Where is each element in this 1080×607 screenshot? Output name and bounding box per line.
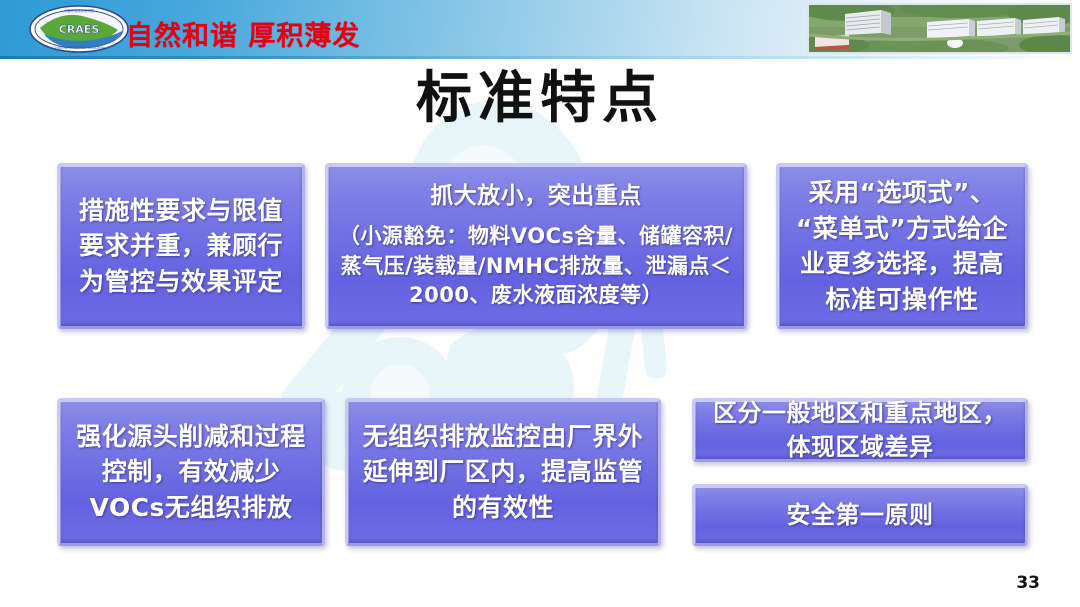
page-title: 标准特点 — [0, 66, 1080, 130]
feature-box-text: 安全第一原则 — [787, 498, 934, 532]
feature-box-measures-and-limits[interactable]: 措施性要求与限值要求并重，兼顾行为管控与效果评定 — [57, 163, 305, 329]
svg-text:CRAES: CRAES — [59, 23, 100, 36]
feature-box-text: 强化源头削减和过程控制，有效减少VOCs无组织排放 — [70, 419, 312, 526]
campus-aerial-photo — [807, 3, 1072, 54]
craes-logo-icon: CRAES 中国环境科学研究院 CHINESE RESEARCH ACADEMY — [26, 4, 132, 54]
slide-root: CRAES 中国环境科学研究院 CHINESE RESEARCH ACADEMY… — [0, 0, 1080, 607]
feature-box-focus-on-major-sources[interactable]: 抓大放小，突出重点 （小源豁免：物料VOCs含量、储罐容积/蒸气压/装载量/NM… — [325, 163, 747, 329]
header-slogan: 自然和谐 厚积薄发 — [126, 14, 360, 53]
feature-box-text: 无组织排放监控由厂界外延伸到厂区内，提高监管的有效性 — [358, 419, 648, 526]
header-underline — [0, 56, 1080, 59]
svg-text:CHINESE RESEARCH ACADEMY: CHINESE RESEARCH ACADEMY — [53, 46, 106, 50]
feature-box-text: 采用“选项式”、“菜单式”方式给企业更多选择，提高标准可操作性 — [789, 175, 1015, 317]
svg-text:中国环境科学研究院: 中国环境科学研究院 — [64, 8, 95, 13]
feature-box-text: 区分一般地区和重点地区，体现区域差异 — [705, 396, 1015, 464]
feature-box-regional-differentiation[interactable]: 区分一般地区和重点地区，体现区域差异 — [692, 398, 1028, 462]
feature-box-safety-first[interactable]: 安全第一原则 — [692, 484, 1028, 546]
feature-box-subtext: （小源豁免：物料VOCs含量、储罐容积/蒸气压/装载量/NMHC排放量、泄漏点＜… — [338, 222, 734, 311]
feature-box-text: 措施性要求与限值要求并重，兼顾行为管控与效果评定 — [70, 193, 292, 300]
feature-box-fugitive-monitoring[interactable]: 无组织排放监控由厂界外延伸到厂区内，提高监管的有效性 — [345, 398, 661, 546]
feature-box-optional-menu-style[interactable]: 采用“选项式”、“菜单式”方式给企业更多选择，提高标准可操作性 — [776, 163, 1028, 329]
page-number: 33 — [1016, 573, 1040, 593]
feature-box-source-reduction[interactable]: 强化源头削减和过程控制，有效减少VOCs无组织排放 — [57, 398, 325, 546]
feature-box-heading: 抓大放小，突出重点 — [430, 181, 642, 212]
